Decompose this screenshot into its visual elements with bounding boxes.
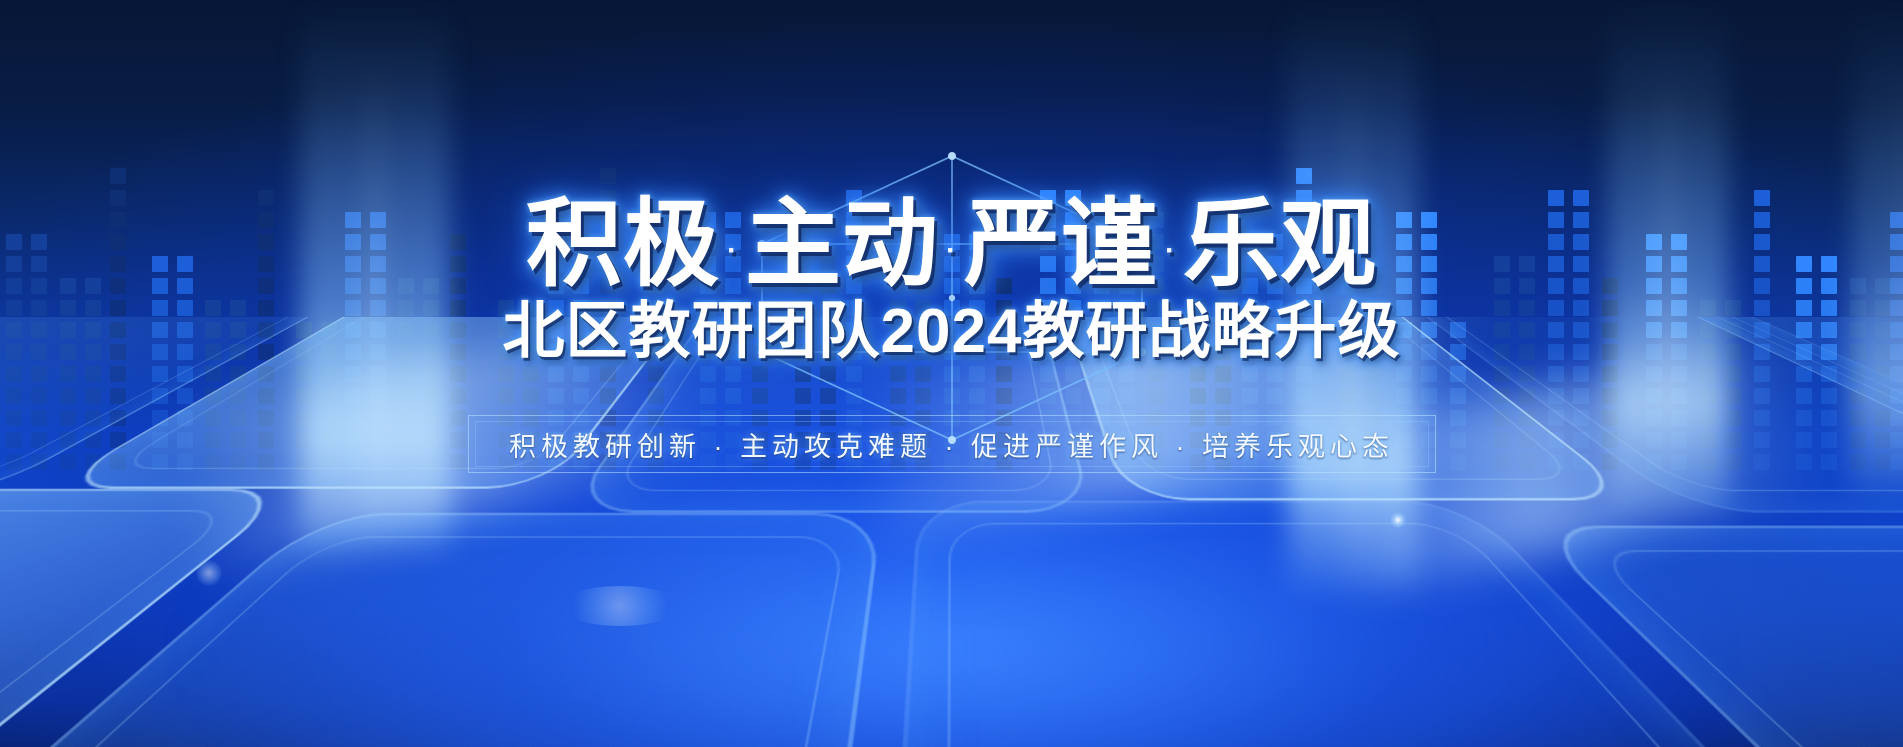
- subheadline: 北区教研团队2024教研战略升级: [503, 301, 1401, 363]
- tagline-text: 积极教研创新 · 主动攻克难题 · 促进严谨作风 · 培养乐观心态: [468, 415, 1436, 473]
- headline-segment: 乐观: [1183, 197, 1377, 293]
- headline: 积极·主动·严谨·乐观: [526, 197, 1377, 293]
- headline-segment: 主动: [745, 197, 939, 293]
- tagline-bar: 积极教研创新 · 主动攻克难题 · 促进严谨作风 · 培养乐观心态: [468, 415, 1436, 473]
- headline-separator: ·: [946, 236, 957, 266]
- banner-stage: 积极·主动·严谨·乐观 北区教研团队2024教研战略升级 积极教研创新 · 主动…: [0, 0, 1903, 747]
- banner-content: 积极·主动·严谨·乐观 北区教研团队2024教研战略升级 积极教研创新 · 主动…: [0, 0, 1903, 747]
- headline-segment: 积极: [526, 197, 720, 293]
- headline-separator: ·: [727, 236, 738, 266]
- headline-segment: 严谨: [964, 197, 1158, 293]
- headline-separator: ·: [1165, 236, 1176, 266]
